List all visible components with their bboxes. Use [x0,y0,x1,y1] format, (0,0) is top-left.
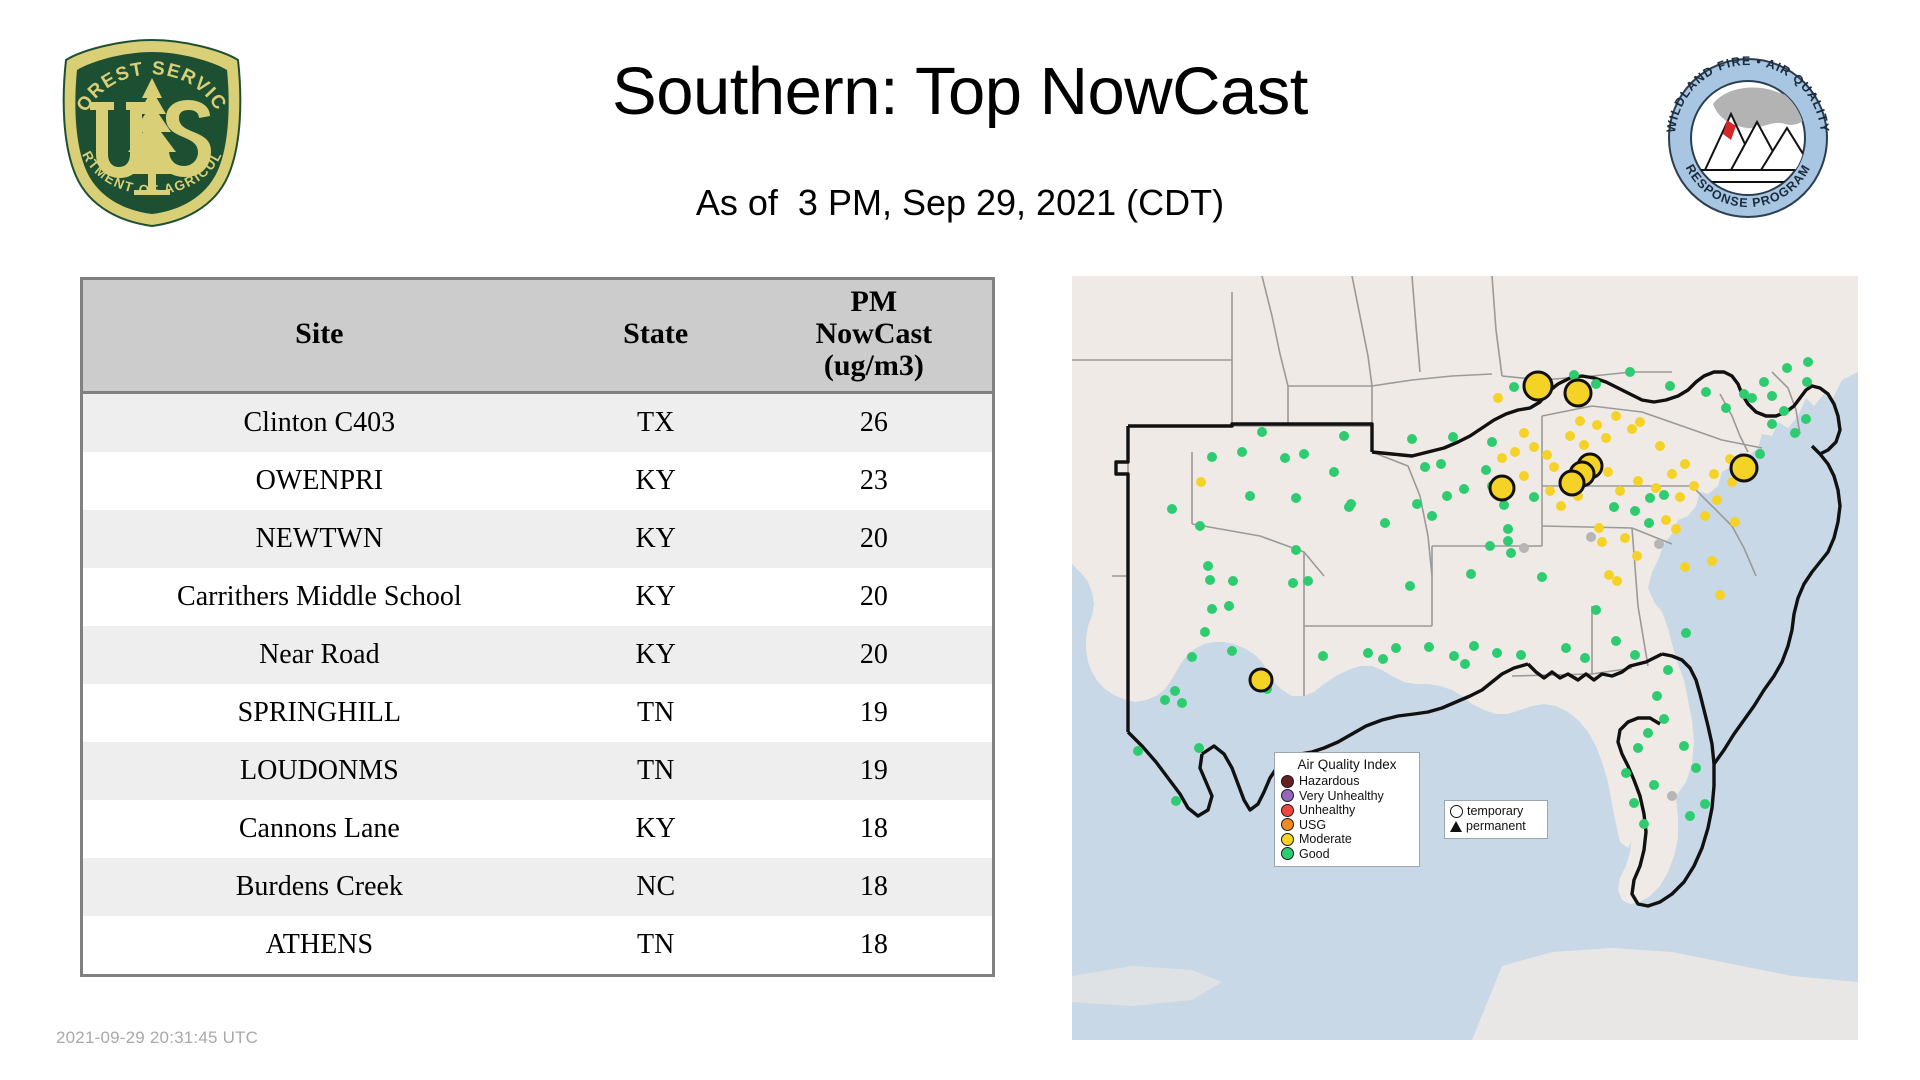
monitor-dot[interactable] [1655,441,1665,451]
aqi-legend-row: Very Unhealthy [1281,789,1413,804]
monitor-dot[interactable] [1801,414,1811,424]
monitor-dot[interactable] [1492,648,1502,658]
monitor-dot[interactable] [1620,533,1630,543]
monitor-dot[interactable] [1133,746,1143,756]
legend-label-permanent: permanent [1466,819,1526,834]
monitor-dot[interactable] [1612,576,1622,586]
monitor-dot[interactable] [1469,641,1479,651]
aqi-swatch-icon [1281,818,1294,831]
monitor-dot[interactable] [1592,420,1602,430]
monitor-dot[interactable] [1556,501,1566,511]
monitor-dot[interactable] [1329,467,1339,477]
monitor-dot[interactable] [1537,572,1547,582]
monitor-dot[interactable] [1561,643,1571,653]
monitor-dot[interactable] [1542,450,1552,460]
monitor-dot[interactable] [1803,357,1813,367]
monitor-dot[interactable] [1170,686,1180,696]
generation-timestamp: 2021-09-29 20:31:45 UTC [56,1028,258,1048]
aqi-swatch-icon [1281,833,1294,846]
monitor-dot[interactable] [1611,636,1621,646]
monitor-dot[interactable] [1603,467,1613,477]
monitor-dot[interactable] [1675,492,1685,502]
monitor-dot[interactable] [1391,643,1401,653]
monitor-dot[interactable] [1497,453,1507,463]
triangle-icon [1450,821,1462,832]
monitor-dot[interactable] [1663,665,1673,675]
monitor-dot[interactable] [1177,698,1187,708]
cell-value: 19 [756,684,992,742]
monitor-dot[interactable] [1545,486,1555,496]
top-site-marker[interactable] [1731,455,1757,481]
monitor-dot[interactable] [1779,406,1789,416]
monitor-dot[interactable] [1597,537,1607,547]
aqi-legend: Air Quality Index HazardousVery Unhealth… [1274,752,1420,867]
monitor-dot[interactable] [1224,601,1234,611]
cell-state: NC [556,858,756,916]
monitor-dot[interactable] [1207,452,1217,462]
monitor-dot[interactable] [1721,403,1731,413]
monitor-dot[interactable] [1654,539,1664,549]
monitor-dot[interactable] [1739,389,1749,399]
monitor-dot[interactable] [1601,433,1611,443]
monitor-dot[interactable] [1685,811,1695,821]
monitor-dot[interactable] [1436,459,1446,469]
monitor-dot[interactable] [1667,791,1677,801]
monitor-dot[interactable] [1448,432,1458,442]
table-row: Cannons LaneKY18 [83,800,992,858]
monitor-dot[interactable] [1679,741,1689,751]
monitor-dot[interactable] [1627,424,1637,434]
monitor-dot[interactable] [1227,646,1237,656]
monitor-dot[interactable] [1630,506,1640,516]
monitor-dot[interactable] [1644,518,1654,528]
table-row: NEWTWNKY20 [83,510,992,568]
monitor-dot[interactable] [1591,379,1601,389]
monitor-dot[interactable] [1621,768,1631,778]
legend-row-permanent: permanent [1450,819,1542,834]
monitor-dot[interactable] [1712,495,1722,505]
monitor-dot[interactable] [1594,523,1604,533]
cell-value: 20 [756,510,992,568]
monitor-dot[interactable] [1509,382,1519,392]
monitor-dot[interactable] [1681,628,1691,638]
monitor-dot[interactable] [1609,502,1619,512]
cell-state: KY [556,452,756,510]
monitor-dot[interactable] [1579,440,1589,450]
monitor-dot[interactable] [1625,367,1635,377]
monitor-dot[interactable] [1790,428,1800,438]
aqi-legend-label: Moderate [1299,832,1352,847]
cell-site: Cannons Lane [83,800,556,858]
cell-site: Near Road [83,626,556,684]
monitor-dot[interactable] [1549,462,1559,472]
monitor-dot[interactable] [1709,469,1719,479]
aqi-legend-row: Moderate [1281,832,1413,847]
monitor-dot[interactable] [1299,449,1309,459]
monitor-dot[interactable] [1510,447,1520,457]
monitor-dot[interactable] [1291,545,1301,555]
monitor-dot[interactable] [1667,469,1677,479]
circle-icon [1450,805,1463,818]
monitor-dot[interactable] [1288,578,1298,588]
aqi-swatch-icon [1281,847,1294,860]
aqi-swatch-icon [1281,789,1294,802]
monitor-dot[interactable] [1363,648,1373,658]
monitor-dot[interactable] [1645,493,1655,503]
monitor-dot[interactable] [1171,796,1181,806]
aqi-legend-row: Unhealthy [1281,803,1413,818]
monitor-dot[interactable] [1516,650,1526,660]
monitor-dot[interactable] [1643,728,1653,738]
cell-state: TN [556,684,756,742]
monitor-dot[interactable] [1565,431,1575,441]
monitor-dot[interactable] [1412,499,1422,509]
monitor-dot[interactable] [1715,590,1725,600]
monitor-dot[interactable] [1194,743,1204,753]
cell-site: OWENPRI [83,452,556,510]
cell-state: KY [556,510,756,568]
monitor-dot[interactable] [1228,576,1238,586]
legend-row-temporary: temporary [1450,804,1542,819]
cell-value: 18 [756,800,992,858]
monitor-dot[interactable] [1207,604,1217,614]
aqi-legend-label: Unhealthy [1299,803,1355,818]
monitor-dot[interactable] [1575,416,1585,426]
monitor-dot[interactable] [1649,780,1659,790]
cell-site: Carrithers Middle School [83,568,556,626]
cell-state: TN [556,742,756,800]
aqi-swatch-icon [1281,775,1294,788]
table-header-row: Site State PM NowCast (ug/m3) [83,280,992,393]
monitor-dot[interactable] [1344,502,1354,512]
monitor-dot[interactable] [1485,541,1495,551]
monitor-dot[interactable] [1659,490,1669,500]
cell-value: 18 [756,858,992,916]
cell-site: NEWTWN [83,510,556,568]
monitor-dot[interactable] [1689,481,1699,491]
column-header-site: Site [83,280,556,393]
column-header-pm-nowcast: PM NowCast (ug/m3) [756,280,992,393]
monitor-dot[interactable] [1405,581,1415,591]
aqi-legend-title: Air Quality Index [1281,757,1413,772]
monitor-dot[interactable] [1755,449,1765,459]
aqi-legend-label: USG [1299,818,1326,833]
monitor-dot[interactable] [1407,434,1417,444]
aqi-legend-label: Very Unhealthy [1299,789,1384,804]
monitor-dot[interactable] [1629,798,1639,808]
monitor-dot[interactable] [1427,511,1437,521]
cell-state: TN [556,916,756,974]
monitor-dot[interactable] [1459,484,1469,494]
monitor-dot[interactable] [1519,428,1529,438]
cell-site: LOUDONMS [83,742,556,800]
monitor-dot[interactable] [1519,471,1529,481]
monitor-dot[interactable] [1487,437,1497,447]
cell-site: ATHENS [83,916,556,974]
top-site-marker[interactable] [1490,476,1514,500]
aqi-legend-row: USG [1281,818,1413,833]
monitor-dot[interactable] [1633,743,1643,753]
monitor-dot[interactable] [1245,491,1255,501]
monitor-dot[interactable] [1700,799,1710,809]
monitor-dot[interactable] [1303,576,1313,586]
monitor-dot[interactable] [1635,417,1645,427]
monitor-dot[interactable] [1652,691,1662,701]
cell-value: 18 [756,916,992,974]
monitor-dot[interactable] [1701,387,1711,397]
monitor-dot[interactable] [1632,551,1642,561]
monitor-dot[interactable] [1665,381,1675,391]
monitor-dot[interactable] [1615,486,1625,496]
monitor-dot[interactable] [1503,524,1513,534]
monitor-dot[interactable] [1700,511,1710,521]
cell-value: 20 [756,568,992,626]
monitor-dot[interactable] [1195,521,1205,531]
monitor-dot[interactable] [1519,543,1529,553]
monitor-dot[interactable] [1691,763,1701,773]
top-site-marker[interactable] [1250,669,1272,691]
monitor-dot[interactable] [1611,411,1621,421]
monitor-dot[interactable] [1651,483,1661,493]
column-header-state: State [556,280,756,393]
cell-value: 23 [756,452,992,510]
cell-value: 19 [756,742,992,800]
aqi-legend-row: Hazardous [1281,774,1413,789]
monitor-dot[interactable] [1680,459,1690,469]
monitor-dot[interactable] [1802,377,1812,387]
monitor-dot[interactable] [1339,431,1349,441]
monitor-dot[interactable] [1591,605,1601,615]
top-site-marker[interactable] [1565,380,1591,406]
monitor-dot[interactable] [1420,462,1430,472]
table-row: Clinton C403TX26 [83,393,992,453]
monitor-dot[interactable] [1203,561,1213,571]
monitor-dot[interactable] [1569,370,1579,380]
monitor-dot[interactable] [1257,427,1267,437]
top-site-marker[interactable] [1560,471,1584,495]
cell-value: 20 [756,626,992,684]
cell-state: KY [556,800,756,858]
cell-site: Burdens Creek [83,858,556,916]
monitor-dot[interactable] [1493,393,1503,403]
monitor-dot[interactable] [1466,569,1476,579]
table-row: Burdens CreekNC18 [83,858,992,916]
cell-site: Clinton C403 [83,393,556,453]
table-row: Carrithers Middle SchoolKY20 [83,568,992,626]
page-subtitle: As of 3 PM, Sep 29, 2021 (CDT) [0,185,1920,221]
table-row: OWENPRIKY23 [83,452,992,510]
monitor-dot[interactable] [1767,419,1777,429]
cell-value: 26 [756,393,992,453]
monitor-dot[interactable] [1529,442,1539,452]
monitor-dot[interactable] [1604,570,1614,580]
southern-region-aqi-map[interactable] [1072,276,1858,1040]
monitor-dot[interactable] [1291,493,1301,503]
column-header-pm-line3: (ug/m3) [756,350,992,382]
aqi-legend-label: Good [1299,847,1330,862]
monitor-dot[interactable] [1730,517,1740,527]
monitor-dot[interactable] [1442,491,1452,501]
monitor-dot[interactable] [1661,515,1671,525]
monitor-dot[interactable] [1759,377,1769,387]
monitor-dot[interactable] [1639,819,1649,829]
monitor-dot[interactable] [1481,465,1491,475]
monitor-dot[interactable] [1380,518,1390,528]
monitor-dot[interactable] [1707,556,1717,566]
cell-state: KY [556,568,756,626]
table-row: Near RoadKY20 [83,626,992,684]
monitor-dot[interactable] [1424,642,1434,652]
monitor-dot[interactable] [1503,536,1513,546]
legend-label-temporary: temporary [1467,804,1523,819]
monitor-dot[interactable] [1167,504,1177,514]
monitor-dot[interactable] [1782,363,1792,373]
monitor-dot[interactable] [1280,453,1290,463]
monitor-dot[interactable] [1200,627,1210,637]
cell-site: SPRINGHILL [83,684,556,742]
monitor-dot[interactable] [1187,652,1197,662]
monitor-dot[interactable] [1318,651,1328,661]
top-nowcast-table: Site State PM NowCast (ug/m3) Clinton C4… [80,277,995,977]
table-row: SPRINGHILLTN19 [83,684,992,742]
monitor-dot[interactable] [1529,492,1539,502]
top-site-marker[interactable] [1524,372,1552,400]
monitor-dot[interactable] [1580,653,1590,663]
monitor-dot[interactable] [1506,548,1516,558]
monitor-dot[interactable] [1680,562,1690,572]
monitor-dot[interactable] [1633,476,1643,486]
monitor-dot[interactable] [1449,651,1459,661]
monitor-dot[interactable] [1586,532,1596,542]
monitor-dot[interactable] [1499,500,1509,510]
cell-state: TX [556,393,756,453]
aqi-legend-row: Good [1281,847,1413,862]
monitor-dot[interactable] [1630,650,1640,660]
aqi-legend-label: Hazardous [1299,774,1359,789]
column-header-pm-line1: PM [756,286,992,318]
column-header-pm-line2: NowCast [756,318,992,350]
monitor-dot[interactable] [1659,714,1669,724]
monitor-dot[interactable] [1460,659,1470,669]
aqi-swatch-icon [1281,804,1294,817]
cell-state: KY [556,626,756,684]
monitor-dot[interactable] [1196,477,1206,487]
monitor-dot[interactable] [1160,695,1170,705]
table-row: ATHENSTN18 [83,916,992,974]
table-row: LOUDONMSTN19 [83,742,992,800]
monitor-dot[interactable] [1205,575,1215,585]
monitor-dot[interactable] [1671,524,1681,534]
monitor-dot[interactable] [1237,447,1247,457]
page-title: Southern: Top NowCast [0,58,1920,125]
monitor-dot[interactable] [1767,391,1777,401]
monitor-type-legend: temporary permanent [1444,800,1548,839]
monitor-dot[interactable] [1378,654,1388,664]
